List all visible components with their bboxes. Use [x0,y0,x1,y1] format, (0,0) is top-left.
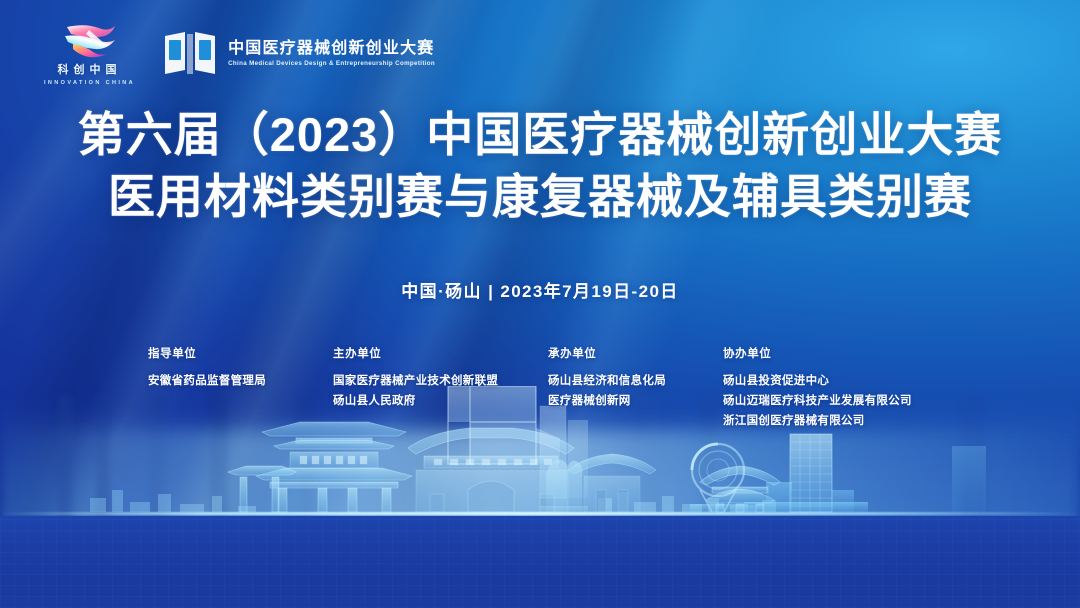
organizer-role: 协办单位 [723,345,912,361]
organizer-unit: 砀山县人民政府 [333,392,548,412]
organizer-column-undertaker: 承办单位 砀山县经济和信息化局 医疗器械创新网 [548,345,723,412]
diagonal-light-streaks [0,0,1080,608]
stone-sculpture [540,460,588,512]
organizer-unit: 砀山迈瑞医疗科技产业发展有限公司 [723,392,912,412]
modern-office-tower [766,434,854,512]
horizon-line [0,512,1080,515]
organizer-unit: 浙江国创医疗器械有限公司 [723,412,912,432]
organizer-role: 主办单位 [333,345,548,361]
header-logos: 科创中国 INNOVATION CHINA 中国医疗器械创新创业大赛 China… [44,22,435,86]
title-line-1: 第六届（2023）中国医疗器械创新创业大赛 [0,104,1080,166]
organizer-column-coorganizer: 协办单位 砀山县投资促进中心 砀山迈瑞医疗科技产业发展有限公司 浙江国创医疗器械… [723,345,912,431]
organizer-column-host: 主办单位 国家医疗器械产业技术创新联盟 砀山县人民政府 [333,345,548,412]
organizer-role: 指导单位 [148,345,333,361]
organizers-section: 指导单位 安徽省药品监督管理局 主办单位 国家医疗器械产业技术创新联盟 砀山县人… [148,345,1020,431]
organizer-unit: 砀山县经济和信息化局 [548,372,723,392]
organizer-column-guidance: 指导单位 安徽省药品监督管理局 [148,345,333,392]
innovation-china-en: INNOVATION CHINA [44,80,135,86]
ground-grid [0,516,1080,608]
ferris-wheel [692,444,744,512]
innovation-china-cn: 科创中国 [58,61,122,77]
title-line-2: 医用材料类别赛与康复器械及辅具类别赛 [0,166,1080,228]
event-location-date: 中国·砀山 | 2023年7月19日-20日 [0,277,1080,302]
horizon-light-beam [0,430,1080,550]
right-pavilion [700,466,780,512]
organizer-unit: 国家医疗器械产业技术创新联盟 [333,372,548,392]
far-right-tower [952,446,986,512]
diagonal-dark-bands [0,0,1080,608]
organizer-unit: 安徽省药品监督管理局 [148,372,333,392]
phoenix-bird-mark [59,22,121,58]
ferris-wheel-base [690,504,748,512]
organizer-unit: 砀山县投资促进中心 [723,372,912,392]
organizer-unit: 医疗器械创新网 [548,392,723,412]
pagoda-pavilion [568,454,656,512]
competition-logo-text: 中国医疗器械创新创业大赛 China Medical Devices Desig… [228,41,435,67]
competition-name-cn: 中国医疗器械创新创业大赛 [228,41,435,58]
innovation-china-logo: 科创中国 INNOVATION CHINA [44,22,135,86]
podium-building [744,502,868,512]
distant-skyline-blocks [90,490,776,512]
open-book-door-mark [163,30,217,78]
organizer-role: 承办单位 [548,345,723,361]
competition-logo: 中国医疗器械创新创业大赛 China Medical Devices Desig… [163,30,435,78]
chinese-paifang-archway [228,422,412,512]
competition-name-en: China Medical Devices Design & Entrepren… [228,60,435,67]
conference-banner: 科创中国 INNOVATION CHINA 中国医疗器械创新创业大赛 China… [0,0,1080,608]
traditional-temple-gate [408,428,574,512]
main-title: 第六届（2023）中国医疗器械创新创业大赛 医用材料类别赛与康复器械及辅具类别赛 [0,104,1080,228]
ground-plane [0,516,1080,608]
